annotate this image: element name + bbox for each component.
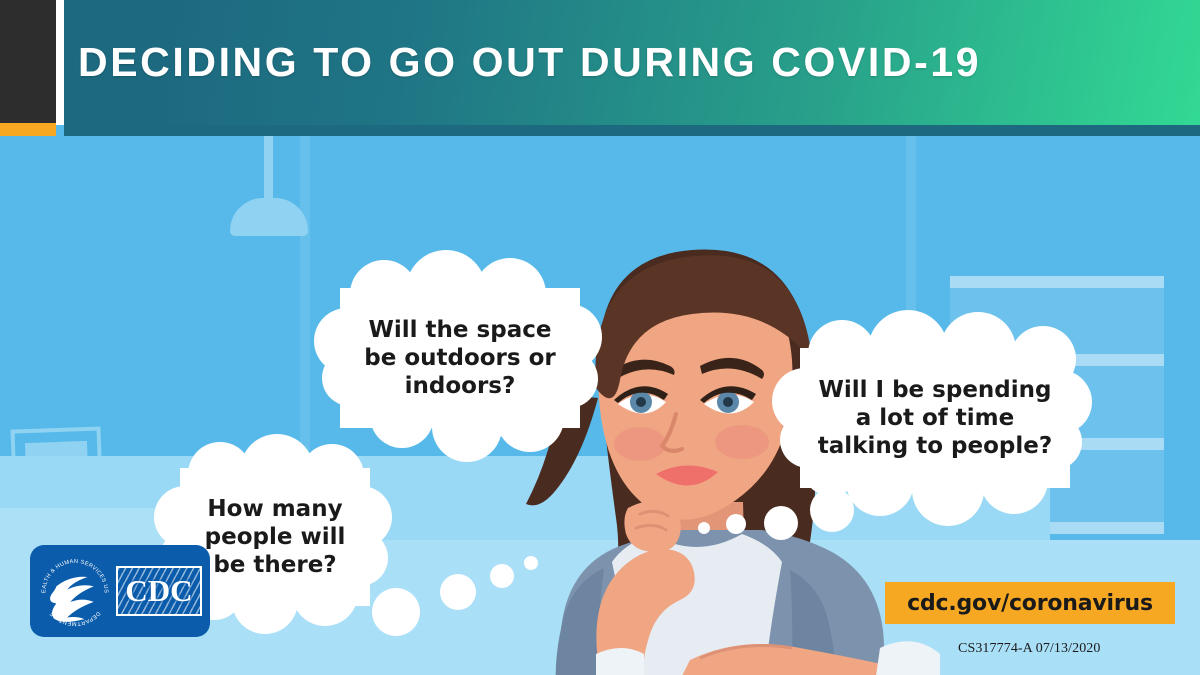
blush-left bbox=[614, 427, 666, 461]
thought-trail-dot bbox=[372, 588, 420, 636]
thought-trail-dot bbox=[764, 506, 798, 540]
thought-trail-dot bbox=[524, 556, 538, 570]
page-title: DECIDING TO GO OUT DURING COVID-19 bbox=[78, 0, 981, 125]
thought-bubble-outdoors: Will the space be outdoors or indoors? bbox=[340, 288, 580, 428]
svg-text:HEALTH & HUMAN SERVICES USA: HEALTH & HUMAN SERVICES USA bbox=[36, 552, 109, 593]
sleeve-cuff-right bbox=[876, 641, 940, 675]
blush-right bbox=[715, 425, 769, 459]
thought-trail-dot bbox=[490, 564, 514, 588]
header-orange-accent-strip bbox=[0, 123, 56, 136]
thought-trail-dot bbox=[726, 514, 746, 534]
thought-bubble-text: Will I be spending a lot of time talking… bbox=[812, 376, 1058, 460]
cdc-wordmark-text: CDC bbox=[118, 568, 200, 614]
cdc-logo: HEALTH & HUMAN SERVICES USA DEPARTMENT O… bbox=[30, 545, 210, 637]
cdc-infographic-poster: DECIDING TO GO OUT DURING COVID-19 bbox=[0, 0, 1200, 675]
cdc-wordmark: CDC bbox=[116, 566, 202, 616]
header-dark-accent-block bbox=[0, 0, 56, 123]
hhs-seal-icon: HEALTH & HUMAN SERVICES USA DEPARTMENT O… bbox=[36, 552, 114, 630]
thought-bubble-text: Will the space be outdoors or indoors? bbox=[358, 316, 562, 400]
cdc-url-banner[interactable]: cdc.gov/coronavirus bbox=[885, 582, 1175, 624]
header-underline-bar bbox=[64, 125, 1200, 136]
header-white-divider bbox=[56, 0, 64, 125]
publication-code: CS317774-A 07/13/2020 bbox=[958, 641, 1101, 657]
pupil-left bbox=[636, 397, 646, 407]
thought-trail-dot bbox=[440, 574, 476, 610]
header-band: DECIDING TO GO OUT DURING COVID-19 bbox=[0, 0, 1200, 125]
thought-bubble-talking: Will I be spending a lot of time talking… bbox=[800, 348, 1070, 488]
thought-trail-dot bbox=[698, 522, 710, 534]
thought-bubble-text: How many people will be there? bbox=[199, 495, 352, 579]
sleeve-cuff-left bbox=[596, 648, 644, 675]
cdc-url-text: cdc.gov/coronavirus bbox=[907, 591, 1153, 616]
hhs-bird-icon bbox=[50, 577, 94, 622]
pupil-right bbox=[723, 397, 733, 407]
